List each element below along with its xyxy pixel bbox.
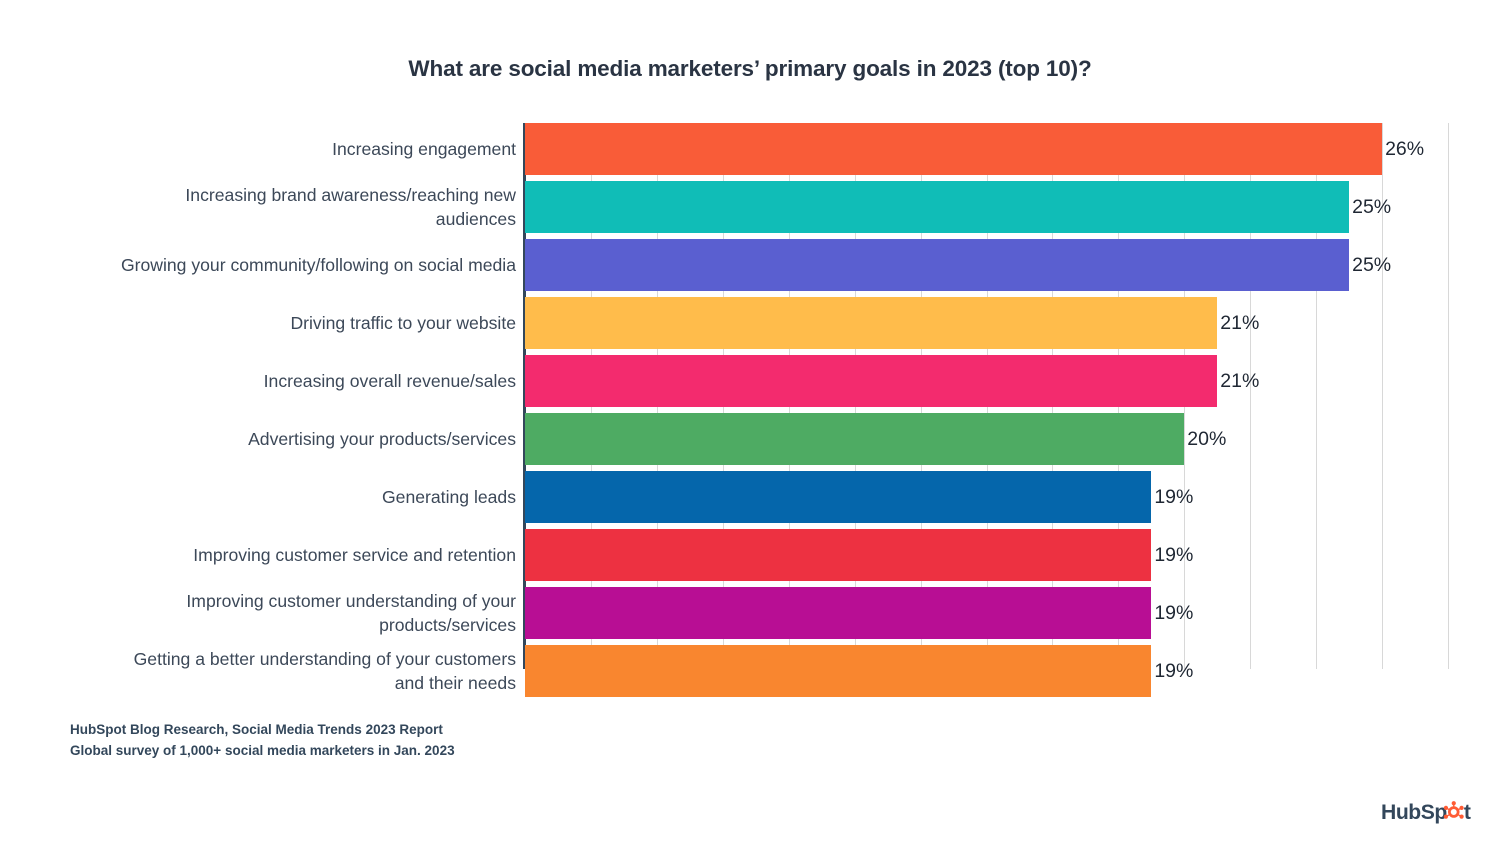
bars-layer: 26%25%25%21%21%20%19%19%19%19% bbox=[525, 123, 1448, 669]
bar-row[interactable]: 19% bbox=[525, 529, 1448, 581]
bar-value-label: 19% bbox=[1151, 645, 1193, 697]
bar[interactable] bbox=[525, 645, 1151, 697]
source-line-2: Global survey of 1,000+ social media mar… bbox=[70, 740, 455, 761]
bar-row[interactable]: 19% bbox=[525, 471, 1448, 523]
bar[interactable] bbox=[525, 413, 1184, 465]
bar[interactable] bbox=[525, 587, 1151, 639]
svg-text:t: t bbox=[1464, 801, 1471, 824]
y-axis-label: Increasing brand awareness/reaching new … bbox=[40, 183, 516, 231]
y-axis-label: Growing your community/following on soci… bbox=[40, 253, 516, 277]
page-title: What are social media marketers’ primary… bbox=[0, 56, 1500, 82]
bar-value-label: 26% bbox=[1382, 123, 1424, 175]
y-axis-label: Advertising your products/services bbox=[40, 427, 516, 451]
bar[interactable] bbox=[525, 297, 1217, 349]
bar[interactable] bbox=[525, 355, 1217, 407]
y-axis-label: Increasing overall revenue/sales bbox=[40, 369, 516, 393]
bar-value-label: 20% bbox=[1184, 413, 1226, 465]
y-axis-labels: Increasing engagementIncreasing brand aw… bbox=[40, 117, 516, 669]
bar-row[interactable]: 21% bbox=[525, 297, 1448, 349]
hubspot-logo-icon: HubSp t bbox=[1381, 798, 1473, 826]
bar-row[interactable]: 21% bbox=[525, 355, 1448, 407]
bar-value-label: 21% bbox=[1217, 355, 1259, 407]
y-axis-label: Increasing engagement bbox=[40, 137, 516, 161]
bar-row[interactable]: 26% bbox=[525, 123, 1448, 175]
bar-value-label: 19% bbox=[1151, 471, 1193, 523]
bar-value-label: 19% bbox=[1151, 529, 1193, 581]
bar-value-label: 21% bbox=[1217, 297, 1259, 349]
y-axis-label: Getting a better understanding of your c… bbox=[40, 647, 516, 695]
bar-row[interactable]: 25% bbox=[525, 239, 1448, 291]
hubspot-logo: HubSp t bbox=[1381, 798, 1473, 826]
bar[interactable] bbox=[525, 529, 1151, 581]
bar-value-label: 25% bbox=[1349, 239, 1391, 291]
bar-row[interactable]: 25% bbox=[525, 181, 1448, 233]
bar-row[interactable]: 19% bbox=[525, 587, 1448, 639]
bar-value-label: 19% bbox=[1151, 587, 1193, 639]
y-axis-label: Improving customer understanding of your… bbox=[40, 589, 516, 637]
svg-text:HubSp: HubSp bbox=[1381, 801, 1447, 824]
bar[interactable] bbox=[525, 181, 1349, 233]
gridline bbox=[1448, 123, 1449, 669]
bar-row[interactable]: 19% bbox=[525, 645, 1448, 697]
bar-value-label: 25% bbox=[1349, 181, 1391, 233]
y-axis-label: Improving customer service and retention bbox=[40, 543, 516, 567]
bar-row[interactable]: 20% bbox=[525, 413, 1448, 465]
chart-container: Increasing engagementIncreasing brand aw… bbox=[0, 117, 1500, 669]
bar[interactable] bbox=[525, 123, 1382, 175]
bar[interactable] bbox=[525, 471, 1151, 523]
source-line-1: HubSpot Blog Research, Social Media Tren… bbox=[70, 719, 455, 740]
plot-area: 26%25%25%21%21%20%19%19%19%19% bbox=[525, 123, 1448, 669]
source-note: HubSpot Blog Research, Social Media Tren… bbox=[70, 719, 455, 761]
y-axis-label: Generating leads bbox=[40, 485, 516, 509]
y-axis-label: Driving traffic to your website bbox=[40, 311, 516, 335]
bar[interactable] bbox=[525, 239, 1349, 291]
